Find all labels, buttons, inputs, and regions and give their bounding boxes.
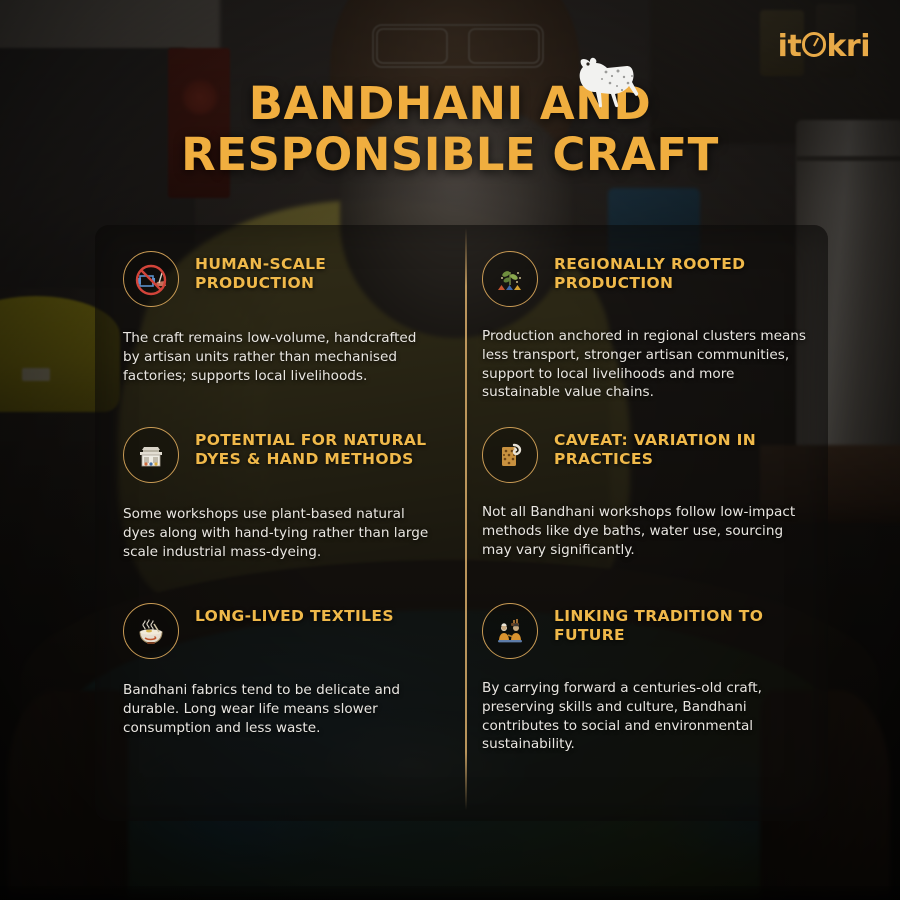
itokri-logo[interactable]: itkri [778, 32, 870, 62]
card-header: LONG-LIVED TEXTILES [123, 603, 436, 659]
steaming-dye-pot-icon [123, 603, 179, 659]
card-header: POTENTIAL FOR NATURAL DYES & HAND METHOD… [123, 427, 436, 483]
card-title: LINKING TRADITION TO FUTURE [554, 603, 814, 645]
no-factory-icon [123, 251, 179, 307]
card-title: REGIONALLY ROOTED PRODUCTION [554, 251, 814, 293]
page-title: BANDHANI AND RESPONSIBLE CRAFT [0, 78, 900, 181]
card-title: LONG-LIVED TEXTILES [195, 603, 394, 626]
card-long-lived-textiles: LONG-LIVED TEXTILES Bandhani fabrics ten… [95, 577, 460, 767]
cards-grid: HUMAN-SCALE PRODUCTION The craft remains… [95, 225, 828, 821]
card-title: CAVEAT: VARIATION IN PRACTICES [554, 427, 814, 469]
card-body: Some workshops use plant-based natural d… [123, 505, 436, 561]
card-potential-natural-dyes: POTENTIAL FOR NATURAL DYES & HAND METHOD… [95, 401, 460, 577]
infographic-canvas: itkri BANDHANI AND RESPONSIBLE CRAFT [0, 0, 900, 900]
logo-text-after: kri [826, 29, 870, 64]
plant-and-dye-powders-icon [482, 251, 538, 307]
card-regionally-rooted-production: REGIONALLY ROOTED PRODUCTION Production … [460, 225, 828, 401]
card-caveat-variation: CAVEAT: VARIATION IN PRACTICES Not all B… [460, 401, 828, 577]
card-header: LINKING TRADITION TO FUTURE [482, 603, 814, 659]
card-body: Bandhani fabrics tend to be delicate and… [123, 681, 436, 737]
card-human-scale-production: HUMAN-SCALE PRODUCTION The craft remains… [95, 225, 460, 401]
tied-fabric-swatch-icon [482, 427, 538, 483]
page-title-line-2: RESPONSIBLE CRAFT [0, 129, 900, 180]
card-body: Not all Bandhani workshops follow low-im… [482, 503, 814, 559]
card-header: HUMAN-SCALE PRODUCTION [123, 251, 436, 307]
logo-o-mark-icon [802, 32, 827, 57]
header: BANDHANI AND RESPONSIBLE CRAFT [0, 0, 900, 181]
logo-text-before: it [778, 29, 802, 64]
card-body: By carrying forward a centuries-old craf… [482, 679, 814, 754]
card-body: Production anchored in regional clusters… [482, 327, 814, 402]
card-header: REGIONALLY ROOTED PRODUCTION [482, 251, 814, 307]
workshop-building-icon [123, 427, 179, 483]
card-body: The craft remains low-volume, handcrafte… [123, 329, 436, 385]
card-linking-tradition-future: LINKING TRADITION TO FUTURE By carrying … [460, 577, 828, 767]
two-artisans-icon [482, 603, 538, 659]
page-title-line-1: BANDHANI AND [0, 78, 900, 129]
card-header: CAVEAT: VARIATION IN PRACTICES [482, 427, 814, 483]
card-title: HUMAN-SCALE PRODUCTION [195, 251, 436, 293]
card-title: POTENTIAL FOR NATURAL DYES & HAND METHOD… [195, 427, 436, 469]
